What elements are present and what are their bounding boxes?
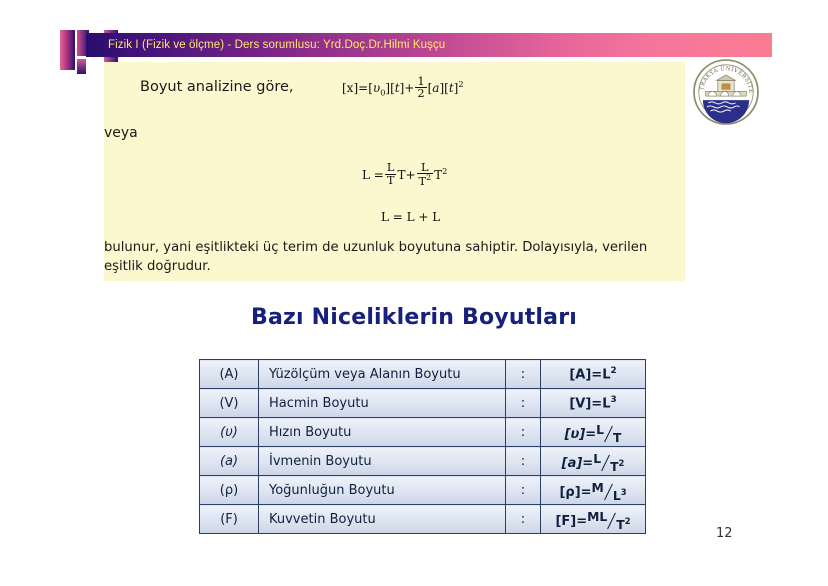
row-description: Kuvvetin Boyutu bbox=[259, 505, 506, 534]
row-value-exp: 3 bbox=[610, 395, 616, 405]
slide-canvas: Fizik I (Fizik ve ölçme) - Ders sorumlus… bbox=[0, 0, 828, 586]
section-heading: Bazı Niceliklerin Boyutları bbox=[0, 305, 828, 330]
eq-mid-f1-den: T bbox=[385, 174, 397, 187]
row-colon: : bbox=[506, 360, 541, 389]
eq-top-plus: + bbox=[404, 81, 414, 95]
row-value-fraction: ML3 bbox=[592, 481, 627, 500]
row-symbol: (V) bbox=[200, 389, 259, 418]
row-value-exp: 2 bbox=[610, 366, 616, 376]
row-symbol: (υ) bbox=[200, 418, 259, 447]
equation-low: L = L + L bbox=[381, 210, 440, 224]
conclusion-text: bulunur, yani eşitlikteki üç terim de uz… bbox=[104, 238, 685, 276]
eq-top-lhs: [x] bbox=[342, 81, 358, 95]
eq-mid-f2-den: T2 bbox=[417, 173, 434, 188]
eq-mid-lhs: L bbox=[362, 168, 370, 182]
row-description: İvmenin Boyutu bbox=[259, 447, 506, 476]
equation-middle: L =LTT+LT2T2 bbox=[362, 162, 447, 189]
deco-square-1 bbox=[60, 30, 75, 70]
row-value: [A]=L2 bbox=[541, 360, 646, 389]
row-value: [ρ]=ML3 bbox=[541, 476, 646, 505]
row-value-fraction: LT bbox=[596, 423, 621, 442]
header-title: Fizik I (Fizik ve ölçme) - Ders sorumlus… bbox=[108, 39, 445, 51]
row-symbol: (ρ) bbox=[200, 476, 259, 505]
veya-label: veya bbox=[104, 125, 138, 141]
dimensions-table: (A) Yüzölçüm veya Alanın Boyutu : [A]=L2… bbox=[199, 359, 646, 534]
slide-header-bar: Fizik I (Fizik ve ölçme) - Ders sorumlus… bbox=[86, 33, 772, 57]
eq-mid-fraction-2: LT2 bbox=[417, 162, 434, 189]
row-value-fraction: MLT2 bbox=[587, 510, 630, 529]
dimensions-table-body: (A) Yüzölçüm veya Alanın Boyutu : [A]=L2… bbox=[200, 360, 646, 534]
deco-square-3 bbox=[77, 59, 86, 74]
row-value: [F]=MLT2 bbox=[541, 505, 646, 534]
intro-text: Boyut analizine göre, bbox=[140, 79, 294, 95]
row-symbol: (A) bbox=[200, 360, 259, 389]
eq-mid-plus: + bbox=[405, 168, 415, 182]
eq-top-term2: [a][t]2 bbox=[428, 81, 464, 95]
row-value-fraction: LT2 bbox=[593, 452, 624, 471]
row-value: [υ]=LT bbox=[541, 418, 646, 447]
row-colon: : bbox=[506, 476, 541, 505]
page-number: 12 bbox=[716, 526, 733, 541]
eq-mid-t2: T2 bbox=[434, 168, 447, 182]
row-symbol: (F) bbox=[200, 505, 259, 534]
content-panel: Boyut analizine göre, [x]=[υ0][t]+12[a][… bbox=[104, 62, 685, 281]
row-colon: : bbox=[506, 418, 541, 447]
eq-top-half-fraction: 12 bbox=[415, 76, 426, 101]
row-colon: : bbox=[506, 447, 541, 476]
university-logo-icon: TRAKYA ÜNİVERSİTESİ bbox=[692, 58, 760, 126]
table-row: (ρ) Yoğunluğun Boyutu : [ρ]=ML3 bbox=[200, 476, 646, 505]
eq-top-equals: = bbox=[358, 81, 368, 95]
eq-mid-equals: = bbox=[374, 168, 384, 182]
table-row: (F) Kuvvetin Boyutu : [F]=MLT2 bbox=[200, 505, 646, 534]
row-description: Yüzölçüm veya Alanın Boyutu bbox=[259, 360, 506, 389]
table-row: (υ) Hızın Boyutu : [υ]=LT bbox=[200, 418, 646, 447]
eq-mid-fraction-1: LT bbox=[385, 162, 397, 187]
row-colon: : bbox=[506, 505, 541, 534]
row-description: Hacmin Boyutu bbox=[259, 389, 506, 418]
eq-top-term1: [υ0][t] bbox=[368, 81, 404, 95]
table-row: (A) Yüzölçüm veya Alanın Boyutu : [A]=L2 bbox=[200, 360, 646, 389]
row-symbol: (a) bbox=[200, 447, 259, 476]
table-row: (a) İvmenin Boyutu : [a]=LT2 bbox=[200, 447, 646, 476]
row-colon: : bbox=[506, 389, 541, 418]
row-value: [V]=L3 bbox=[541, 389, 646, 418]
eq-mid-f2-num: L bbox=[417, 162, 434, 174]
row-value: [a]=LT2 bbox=[541, 447, 646, 476]
row-description: Hızın Boyutu bbox=[259, 418, 506, 447]
equation-top: [x]=[υ0][t]+12[a][t]2 bbox=[342, 76, 464, 101]
eq-top-frac-den: 2 bbox=[415, 87, 426, 100]
table-row: (V) Hacmin Boyutu : [V]=L3 bbox=[200, 389, 646, 418]
row-description: Yoğunluğun Boyutu bbox=[259, 476, 506, 505]
